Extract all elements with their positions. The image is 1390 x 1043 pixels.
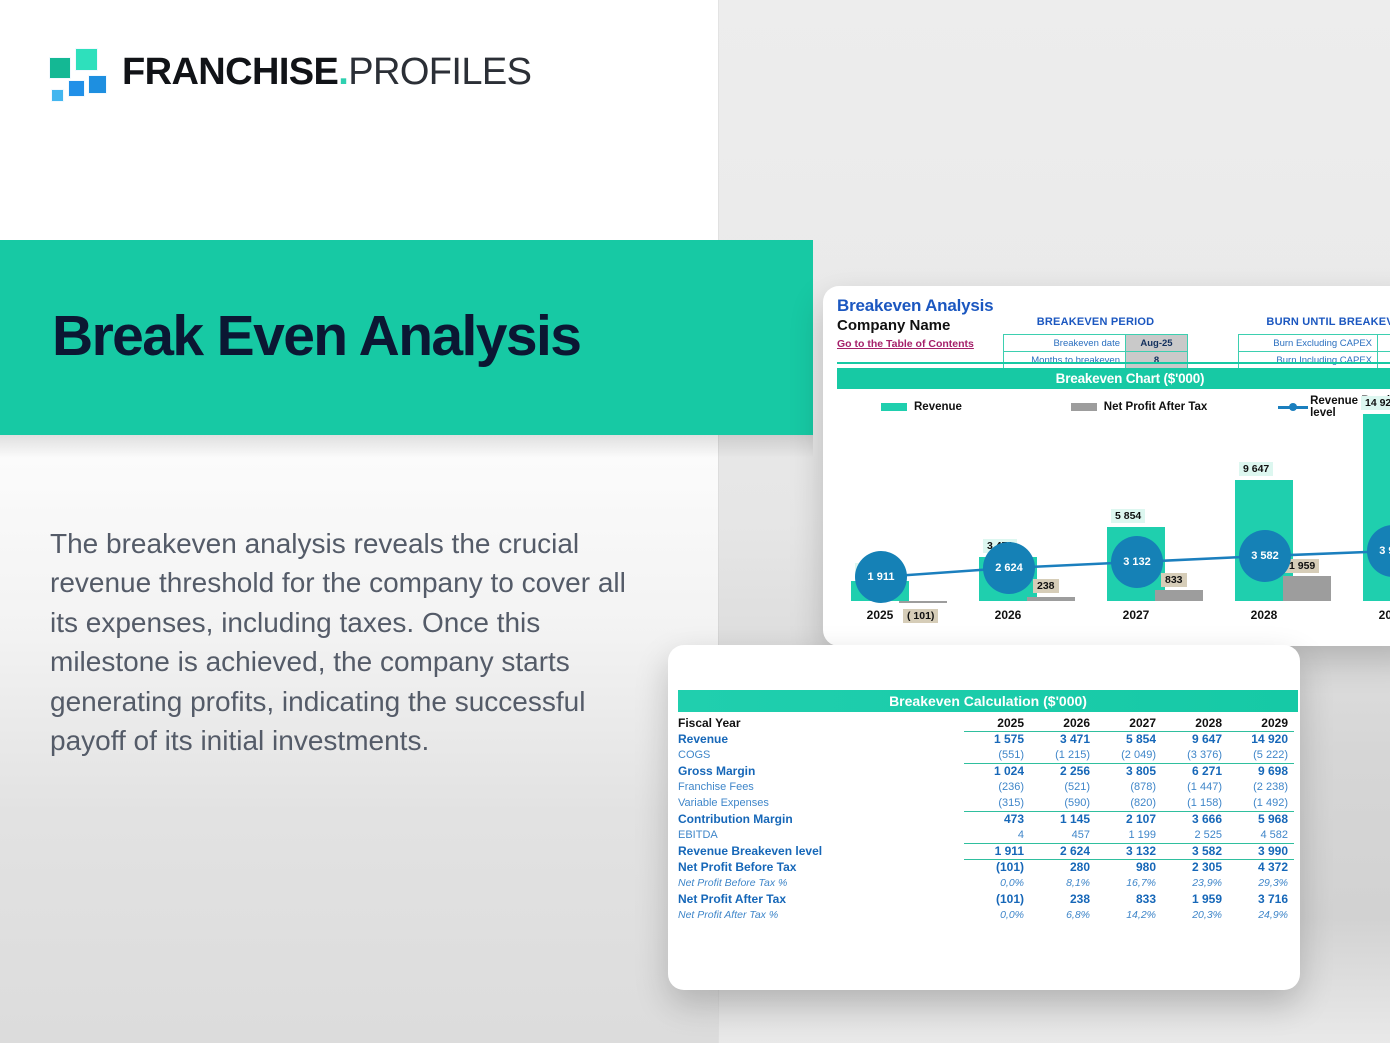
cell: (101) (964, 859, 1030, 875)
column-header-2029: 2029 (1228, 715, 1294, 731)
row-label: Gross Margin (676, 763, 964, 779)
cell: (315) (964, 795, 1030, 811)
cell: 5 854 (1096, 731, 1162, 747)
cell: 1 911 (964, 843, 1030, 859)
breakeven-calculation-card: Breakeven Calculation ($'000) Fiscal Yea… (668, 645, 1300, 990)
cell: (101) (964, 891, 1030, 907)
background-panel-left (0, 0, 718, 1043)
logo-square-2 (49, 57, 71, 79)
cell: 9 647 (1162, 731, 1228, 747)
cell: (1 215) (1030, 747, 1096, 763)
label-revenue-2029: 14 920 (1361, 396, 1390, 410)
row-label: Net Profit Before Tax (676, 859, 964, 875)
cell: 3 805 (1096, 763, 1162, 779)
cell: (551) (964, 747, 1030, 763)
row-label: Revenue Breakeven level (676, 843, 964, 859)
cell: (521) (1030, 779, 1096, 795)
legend-swatch-npat-icon (1071, 403, 1097, 411)
kpi-value[interactable]: Aug-25 (1126, 335, 1188, 352)
bubble-breakeven-2027: 3 132 (1111, 536, 1163, 588)
cell: 3 582 (1162, 843, 1228, 859)
column-header-2026: 2026 (1030, 715, 1096, 731)
table-row: Variable Expenses (315) (590) (820) (1 1… (676, 795, 1294, 811)
kpi-label: Burn Excluding CAPEX (1239, 335, 1378, 352)
logo-square-1 (75, 48, 98, 71)
cell: 0,0% (964, 875, 1030, 891)
kpi-label: Months to breakeven (1004, 352, 1126, 369)
breakeven-period-heading: BREAKEVEN PERIOD (1003, 316, 1188, 328)
cell: 4 372 (1228, 859, 1294, 875)
logo-word-dot: . (338, 53, 348, 91)
cell: 6 271 (1162, 763, 1228, 779)
table-row: COGS (551) (1 215) (2 049) (3 376) (5 22… (676, 747, 1294, 763)
table-row: Net Profit After Tax % 0,0% 6,8% 14,2% 2… (676, 907, 1294, 923)
chart-x-axis: 2025 2026 2027 2028 2029 (837, 608, 1390, 628)
table-header-row: Fiscal Year 2025 2026 2027 2028 2029 (676, 715, 1294, 731)
brand-logo: FRANCHISE.PROFILES (48, 48, 531, 96)
x-tick-2026: 2026 (995, 608, 1022, 622)
cell: (2 238) (1228, 779, 1294, 795)
cell: 1 959 (1162, 891, 1228, 907)
cell: 20,3% (1162, 907, 1228, 923)
bar-npat-2025 (899, 601, 947, 603)
kpi-value[interactable] (1378, 335, 1390, 352)
cell: 24,9% (1228, 907, 1294, 923)
cell: 1 199 (1096, 827, 1162, 843)
cell: (5 222) (1228, 747, 1294, 763)
x-tick-2028: 2028 (1251, 608, 1278, 622)
logo-wordmark: FRANCHISE.PROFILES (122, 53, 531, 91)
cell: 280 (1030, 859, 1096, 875)
cell: 4 (964, 827, 1030, 843)
logo-square-3 (88, 75, 107, 94)
table-row: Net Profit Before Tax (101) 280 980 2 30… (676, 859, 1294, 875)
cell: (236) (964, 779, 1030, 795)
cell: 14 920 (1228, 731, 1294, 747)
table-row: Net Profit After Tax (101) 238 833 1 959… (676, 891, 1294, 907)
row-label: Revenue (676, 731, 964, 747)
row-label: COGS (676, 747, 964, 763)
intro-paragraph: The breakeven analysis reveals the cruci… (50, 524, 630, 761)
x-tick-2025: 2025 (867, 608, 894, 622)
cell: 3 471 (1030, 731, 1096, 747)
breakeven-chart-card: Breakeven Analysis Company Name Go to th… (823, 286, 1390, 646)
cell: 238 (1030, 891, 1096, 907)
row-label: EBITDA (676, 827, 964, 843)
kpi-value[interactable]: 8 (1126, 352, 1188, 369)
table-of-contents-link[interactable]: Go to the Table of Contents (837, 338, 974, 350)
cell: (2 049) (1096, 747, 1162, 763)
burn-until-breakeven-heading: BURN UNTIL BREAKEVEN (1238, 316, 1390, 328)
logo-square-5 (51, 89, 64, 102)
cell: 23,9% (1162, 875, 1228, 891)
chart-card-rule (837, 362, 1390, 364)
logo-square-4 (68, 80, 85, 97)
kpi-row: Burn Including CAPEX (1239, 352, 1390, 369)
table-row: Revenue 1 575 3 471 5 854 9 647 14 920 (676, 731, 1294, 747)
bubble-breakeven-2026: 2 624 (983, 542, 1035, 594)
row-label: Net Profit After Tax % (676, 907, 964, 923)
cell: 5 968 (1228, 811, 1294, 827)
cell: 3 990 (1228, 843, 1294, 859)
table-row-header: Fiscal Year (676, 715, 964, 731)
x-tick-2029: 2029 (1379, 608, 1390, 622)
table-row: Revenue Breakeven level 1 911 2 624 3 13… (676, 843, 1294, 859)
label-revenue-2027: 5 854 (1111, 509, 1145, 523)
kpi-row: Breakeven date Aug-25 (1004, 335, 1188, 352)
logo-word-profiles: PROFILES (348, 53, 531, 91)
row-label: Net Profit After Tax (676, 891, 964, 907)
chart-banner-title: Breakeven Chart ($'000) (837, 368, 1390, 389)
cell: 2 624 (1030, 843, 1096, 859)
chart-plot-area: 1 575 3 471 5 854 9 647 14 920 ( 101) 23… (837, 416, 1390, 601)
chart-card-title: Breakeven Analysis (837, 296, 1390, 316)
cell: 2 256 (1030, 763, 1096, 779)
label-revenue-2028: 9 647 (1239, 462, 1273, 476)
cell: 4 582 (1228, 827, 1294, 843)
cell: (3 376) (1162, 747, 1228, 763)
cell: 473 (964, 811, 1030, 827)
cell: 6,8% (1030, 907, 1096, 923)
logo-mark-icon (48, 48, 108, 96)
label-npat-2026: 238 (1033, 579, 1059, 593)
column-header-2028: 2028 (1162, 715, 1228, 731)
table-row: Franchise Fees (236) (521) (878) (1 447)… (676, 779, 1294, 795)
cell: 2 107 (1096, 811, 1162, 827)
cell: 2 305 (1162, 859, 1228, 875)
cell: 0,0% (964, 907, 1030, 923)
cell: 1 575 (964, 731, 1030, 747)
hero-band-shadow (0, 432, 813, 458)
cell: 8,1% (1030, 875, 1096, 891)
cell: 3 716 (1228, 891, 1294, 907)
cell: 16,7% (1096, 875, 1162, 891)
bubble-breakeven-2028: 3 582 (1239, 530, 1291, 582)
legend-label-revenue: Revenue (914, 401, 962, 413)
table-row: Contribution Margin 473 1 145 2 107 3 66… (676, 811, 1294, 827)
cell: 3 132 (1096, 843, 1162, 859)
cell: (1 492) (1228, 795, 1294, 811)
kpi-row: Burn Excluding CAPEX (1239, 335, 1390, 352)
table-banner-title: Breakeven Calculation ($'000) (678, 690, 1298, 712)
cell: 1 145 (1030, 811, 1096, 827)
table-row: Net Profit Before Tax % 0,0% 8,1% 16,7% … (676, 875, 1294, 891)
bubble-breakeven-2025: 1 911 (855, 551, 907, 603)
kpi-label: Burn Including CAPEX (1239, 352, 1378, 369)
cell: 14,2% (1096, 907, 1162, 923)
legend-label-net-profit-after-tax: Net Profit After Tax (1104, 401, 1208, 413)
table-row: Gross Margin 1 024 2 256 3 805 6 271 9 6… (676, 763, 1294, 779)
legend-swatch-revenue-icon (881, 403, 907, 411)
cell: 980 (1096, 859, 1162, 875)
kpi-label: Breakeven date (1004, 335, 1126, 352)
row-label: Variable Expenses (676, 795, 964, 811)
x-tick-2027: 2027 (1123, 608, 1150, 622)
cell: 3 666 (1162, 811, 1228, 827)
row-label: Franchise Fees (676, 779, 964, 795)
cell: (878) (1096, 779, 1162, 795)
page-title: Break Even Analysis (52, 303, 580, 369)
label-npat-2027: 833 (1161, 573, 1187, 587)
cell: (1 447) (1162, 779, 1228, 795)
cell: 457 (1030, 827, 1096, 843)
cell: 29,3% (1228, 875, 1294, 891)
cell: 2 525 (1162, 827, 1228, 843)
kpi-value[interactable] (1378, 352, 1390, 369)
column-header-2025: 2025 (964, 715, 1030, 731)
cell: 1 024 (964, 763, 1030, 779)
row-label: Net Profit Before Tax % (676, 875, 964, 891)
kpi-row: Months to breakeven 8 (1004, 352, 1188, 369)
logo-word-franchise: FRANCHISE (122, 53, 338, 91)
row-label: Contribution Margin (676, 811, 964, 827)
cell: (590) (1030, 795, 1096, 811)
legend-line-breakeven-icon (1278, 402, 1306, 412)
column-header-2027: 2027 (1096, 715, 1162, 731)
cell: (1 158) (1162, 795, 1228, 811)
cell: (820) (1096, 795, 1162, 811)
table-row: EBITDA 4 457 1 199 2 525 4 582 (676, 827, 1294, 843)
cell: 9 698 (1228, 763, 1294, 779)
cell: 833 (1096, 891, 1162, 907)
breakeven-calculation-table: Fiscal Year 2025 2026 2027 2028 2029 Rev… (676, 715, 1294, 923)
